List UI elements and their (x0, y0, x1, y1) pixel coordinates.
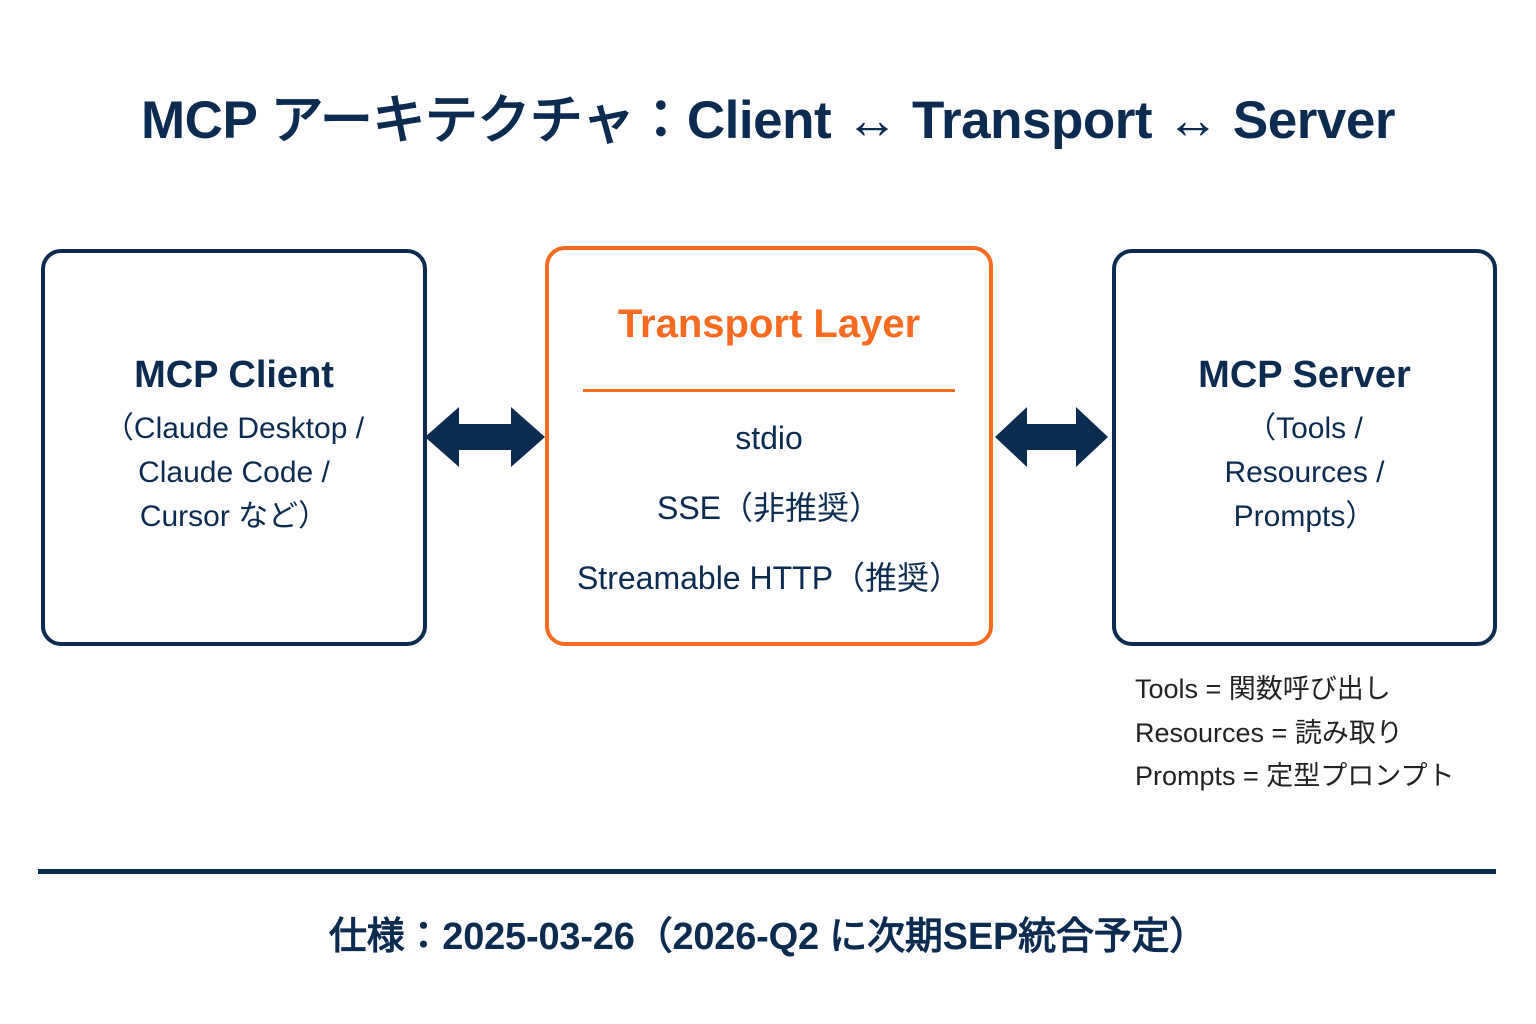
mcp-server-box: MCP Server （Tools / Resources / Prompts） (1112, 249, 1497, 646)
transport-server-double-arrow-icon (995, 403, 1108, 476)
mcp-client-box: MCP Client （Claude Desktop / Claude Code… (41, 249, 427, 646)
page-title: MCP アーキテクチャ：Client ↔ Transport ↔ Server (0, 78, 1536, 154)
transport-layer-box: Transport Layer stdio SSE（非推奨） Streamabl… (545, 246, 993, 646)
server-capability-legend: Tools = 関数呼び出し Resources = 読み取り Prompts … (1135, 668, 1515, 799)
mcp-server-heading: MCP Server (1198, 355, 1411, 397)
transport-layer-heading: Transport Layer (618, 304, 920, 344)
mcp-client-subtitle: （Claude Desktop / Claude Code / Cursor な… (104, 407, 364, 539)
transport-option-streamable-http: Streamable HTTP（推奨） (549, 562, 989, 594)
spec-version-footer: 仕様：2025-03-26（2026-Q2 に次期SEP統合予定） (0, 905, 1536, 960)
mcp-client-heading: MCP Client (134, 355, 334, 397)
transport-option-sse: SSE（非推奨） (549, 492, 989, 524)
transport-options-list: stdio SSE（非推奨） Streamable HTTP（推奨） (549, 422, 989, 594)
mcp-server-subtitle: （Tools / Resources / Prompts） (1224, 407, 1384, 539)
client-transport-double-arrow-icon (425, 403, 545, 476)
diagram-canvas: MCP アーキテクチャ：Client ↔ Transport ↔ Server … (0, 0, 1536, 1024)
footer-divider (38, 869, 1496, 874)
transport-divider (583, 389, 955, 392)
transport-option-stdio: stdio (549, 422, 989, 454)
